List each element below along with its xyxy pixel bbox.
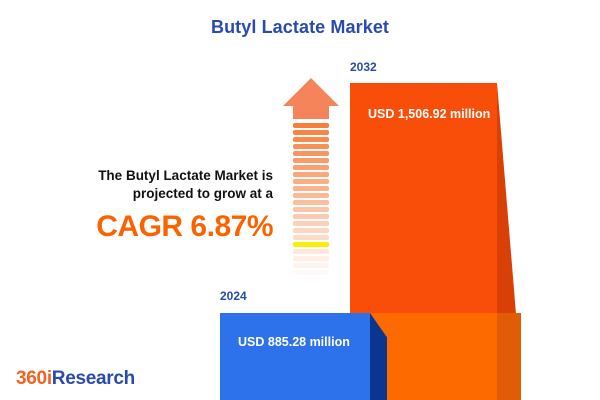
- bar-2024: USD 885.28 million: [220, 313, 370, 400]
- arrow-gradient-bar: [293, 249, 329, 254]
- arrow-gradient-bar: [293, 186, 329, 191]
- arrow-gradient-bar: [293, 123, 329, 128]
- arrow-gradient-bar: [293, 214, 329, 219]
- arrow-gradient-bar: [293, 256, 329, 261]
- arrow-gradient-bar: [293, 235, 329, 240]
- bar-2024-value-label: USD 885.28 million: [238, 335, 350, 349]
- arrow-gradient-bar: [293, 228, 329, 233]
- cagr-line-1: The Butyl Lactate Market is: [55, 167, 273, 185]
- page-title: Butyl Lactate Market: [0, 17, 600, 38]
- cagr-callout: The Butyl Lactate Market is projected to…: [55, 167, 273, 244]
- arrow-gradient-bar: [293, 193, 329, 198]
- arrow-gradient-bars: [293, 123, 329, 293]
- infographic-canvas: Butyl Lactate Market The Butyl Lactate M…: [0, 0, 600, 400]
- logo-text-research: Research: [52, 368, 135, 389]
- arrow-gradient-bar: [293, 158, 329, 163]
- bar-2032-value-label: USD 1,506.92 million: [368, 107, 490, 121]
- arrow-gradient-bar: [293, 172, 329, 177]
- arrow-gradient-bar: [293, 277, 329, 282]
- arrow-gradient-bar: [293, 151, 329, 156]
- bar-year-label-2032: 2032: [350, 60, 377, 74]
- arrow-gradient-bar: [293, 221, 329, 226]
- arrow-gradient-bar: [293, 284, 329, 289]
- cagr-value: CAGR 6.87%: [55, 210, 273, 244]
- arrow-head-shape: [283, 78, 339, 106]
- bar-year-label-2024: 2024: [220, 289, 247, 303]
- arrow-gradient-bar: [293, 263, 329, 268]
- arrow-gradient-bar: [293, 207, 329, 212]
- arrow-gradient-bar: [293, 165, 329, 170]
- arrow-gradient-bar: [293, 179, 329, 184]
- brand-logo: 360iResearch: [16, 368, 135, 390]
- arrow-gradient-bar: [293, 270, 329, 275]
- growth-arrow-icon: [283, 78, 339, 293]
- logo-text-360: 360: [16, 368, 47, 389]
- bar-2032-side-face-base: [497, 313, 521, 400]
- arrow-gradient-bar: [293, 144, 329, 149]
- arrow-gradient-bar: [293, 137, 329, 142]
- cagr-line-2: projected to grow at a: [55, 185, 273, 203]
- bar-2024-front-face: [220, 313, 370, 400]
- arrow-neck-shape: [293, 106, 329, 119]
- arrow-gradient-bar: [293, 242, 329, 247]
- arrow-gradient-bar: [293, 200, 329, 205]
- arrow-gradient-bar: [293, 130, 329, 135]
